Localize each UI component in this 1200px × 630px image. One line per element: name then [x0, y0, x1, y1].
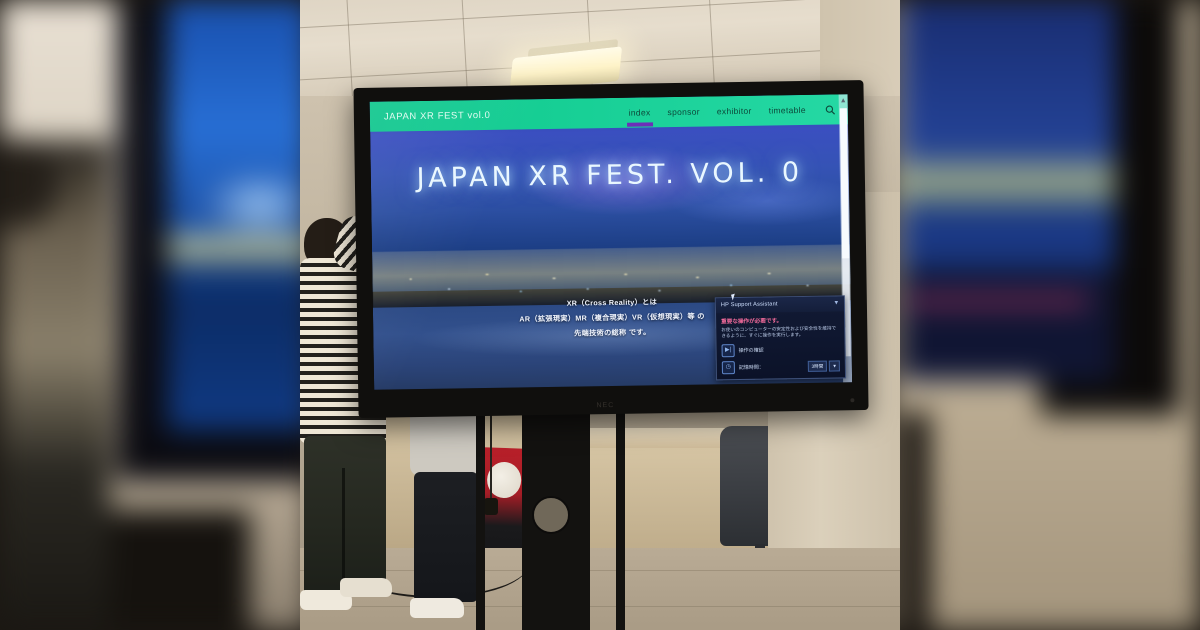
popup-row-action[interactable]: ▶| 操作の確認: [722, 342, 840, 357]
blurred-left-fill: [0, 0, 310, 630]
popup-schedule-select[interactable]: 3時間 ▼: [807, 360, 839, 372]
popup-headline: 重要な操作が必要です。: [721, 315, 839, 325]
display-brand-logo: NEC: [596, 402, 614, 409]
blurred-right-fill: [890, 0, 1200, 630]
scroll-up-arrow-icon[interactable]: ▲: [839, 95, 848, 107]
popup-body: 重要な操作が必要です。 お使いのコンピューターの安定性および安全性を維持できるよ…: [716, 311, 845, 379]
site-nav: index sponsor exhibitor timetable: [629, 104, 836, 118]
person2-trousers: [414, 472, 478, 602]
flat-panel-display: JAPAN XR FEST vol.0 index sponsor exhibi…: [353, 80, 868, 418]
nav-item-index[interactable]: index: [629, 107, 651, 117]
site-brand[interactable]: JAPAN XR FEST vol.0: [384, 109, 491, 122]
screenshot-root: JAPAN XR FEST vol.0 index sponsor exhibi…: [0, 0, 1200, 630]
hp-support-assistant-popup[interactable]: HP Support Assistant ▼ 重要な操作が必要です。 お使いのコ…: [715, 295, 846, 380]
skip-forward-icon: ▶|: [722, 344, 735, 357]
nav-item-timetable[interactable]: timetable: [769, 105, 806, 116]
popup-title: HP Support Assistant: [721, 302, 778, 309]
webpage: JAPAN XR FEST vol.0 index sponsor exhibi…: [370, 94, 852, 389]
person2-shoe: [410, 598, 464, 618]
popup-message: お使いのコンピューターの安定性および安全性を維持できるように、すぐに操作を実行し…: [721, 325, 839, 340]
nav-item-exhibitor[interactable]: exhibitor: [717, 106, 752, 117]
clock-icon: ◷: [722, 361, 735, 374]
nav-item-sponsor[interactable]: sponsor: [667, 107, 699, 118]
person-shoe-right: [340, 578, 392, 597]
person-trousers: [304, 436, 386, 596]
search-icon[interactable]: [825, 104, 836, 115]
stand-post-right: [616, 406, 625, 630]
stand-post-left: [476, 406, 485, 630]
hanging-plug: [484, 498, 498, 515]
office-photograph: JAPAN XR FEST vol.0 index sponsor exhibi…: [300, 0, 900, 630]
popup-action-label[interactable]: 操作の確認: [739, 347, 764, 354]
stand-cable-port: [532, 496, 570, 534]
display-screen: JAPAN XR FEST vol.0 index sponsor exhibi…: [370, 94, 852, 389]
popup-row-schedule[interactable]: ◷ 記憶時間： 3時間 ▼: [722, 359, 840, 374]
popup-schedule-label: 記憶時間：: [739, 364, 764, 371]
popup-schedule-value[interactable]: 3時間: [807, 361, 827, 372]
scrollbar-thumb[interactable]: [840, 108, 849, 258]
popup-titlebar: HP Support Assistant ▼: [716, 296, 844, 313]
hanging-cord: [490, 404, 492, 500]
popup-collapse-icon[interactable]: ▼: [833, 300, 840, 307]
power-led: [850, 398, 854, 402]
chevron-down-icon[interactable]: ▼: [829, 360, 840, 371]
